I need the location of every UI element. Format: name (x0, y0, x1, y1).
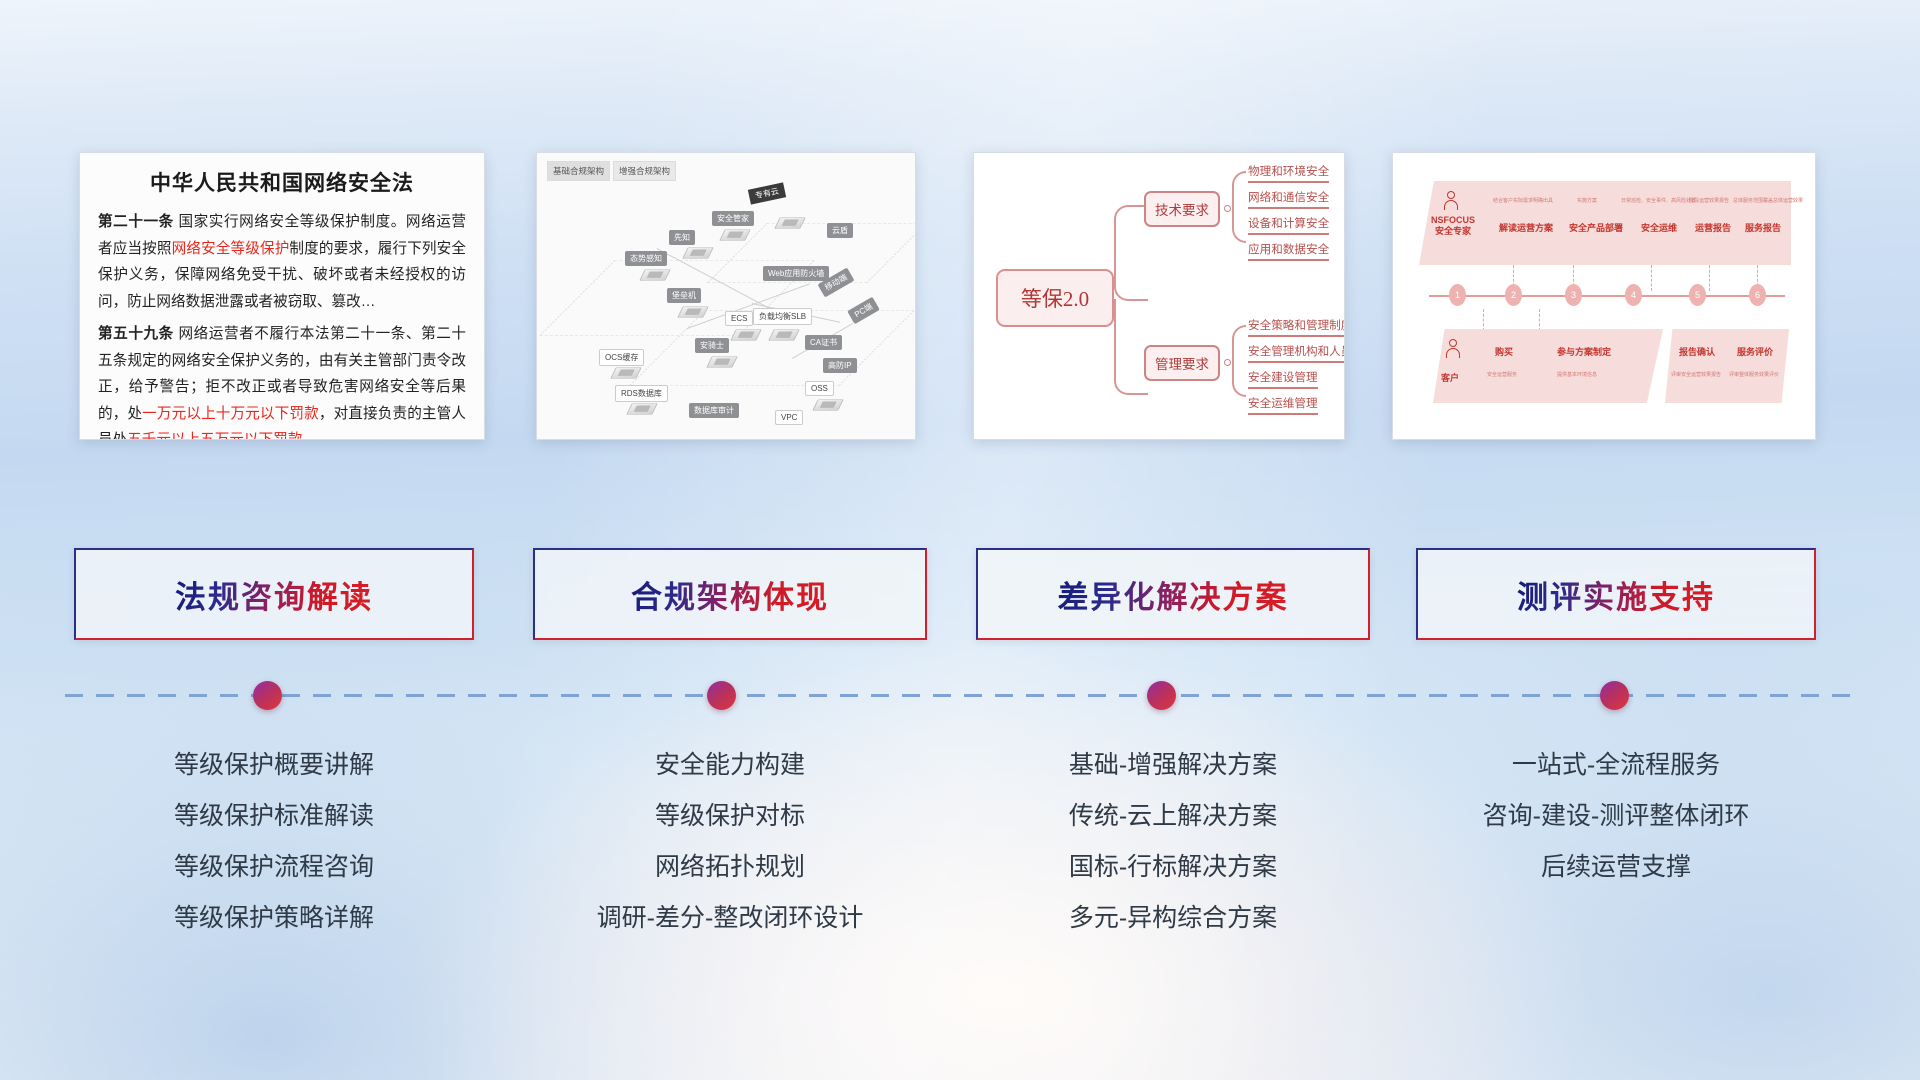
mindmap-branch-technical: 技术要求 (1144, 191, 1220, 227)
flow-axis (1429, 295, 1785, 297)
article-59-label: 第五十九条 (98, 326, 174, 342)
list-item: 后续运营支撑 (1416, 842, 1816, 893)
article-21-highlight: 网络安全等级保护 (172, 241, 290, 257)
step-1-sub: 结合客户实际需求明确出具 (1493, 197, 1553, 204)
list-item: 咨询-建设-测评整体闭环 (1416, 791, 1816, 842)
node-oss: OSS (805, 381, 834, 396)
mindmap-branch-management: 管理要求 (1144, 345, 1220, 381)
section-title-4: 测评实施支持 (1517, 572, 1715, 617)
step-3-sub: 日常巡检、安全事件、高风险处置 (1621, 197, 1696, 204)
customer-step-2-title: 参与方案制定 (1557, 345, 1611, 358)
dash-connector-3 (1651, 265, 1652, 291)
step-3-title: 安全运维 (1641, 221, 1677, 234)
law-article-59: 第五十九条 网络运营者不履行本法第二十一条、第二十五条规定的网络安全保护义务的，… (98, 321, 466, 440)
service-flow-diagram: NSFOCUS 安全专家 结合客户实际需求明确出具 解读运营方案 实施方案 安全… (1393, 153, 1815, 439)
mindmap-node-dot-1 (1224, 205, 1231, 212)
list-item: 一站式-全流程服务 (1416, 740, 1816, 791)
dash-connector-4 (1709, 265, 1710, 291)
mindmap-fan-2 (1232, 325, 1246, 397)
node-ecs: ECS (725, 311, 753, 326)
node-security-butler: 安全管家 (712, 211, 754, 226)
step-2-title: 安全产品部署 (1569, 221, 1623, 234)
list-item: 等级保护概要讲解 (74, 740, 474, 791)
section-title-2: 合规架构体现 (631, 572, 829, 617)
node-database-audit: 数据库审计 (689, 403, 739, 418)
cube-icon-9 (771, 325, 797, 345)
timeline-dot-2[interactable] (707, 681, 736, 710)
section-titles-row: 法规咨询解读 合规架构体现 差异化解决方案 测评实施支持 (0, 548, 1920, 644)
thumbnail-row: 中华人民共和国网络安全法 第二十一条 国家实行网络安全等级保护制度。网络运营者应… (0, 152, 1920, 442)
list-item: 等级保护标准解读 (74, 791, 474, 842)
mindmap-node-dot-2 (1224, 359, 1231, 366)
tab-basic-architecture[interactable]: 基础合规架构 (547, 161, 610, 181)
node-vpc: VPC (775, 410, 803, 425)
tab-enhanced-architecture[interactable]: 增强合规架构 (613, 161, 676, 181)
flow-number-3: 3 (1565, 284, 1582, 306)
list-item: 多元-异构综合方案 (976, 893, 1370, 944)
architecture-tabs: 基础合规架构 增强合规架构 (547, 161, 676, 181)
mindmap-fan-1 (1232, 171, 1246, 243)
report-step-2-sub: 评审整体服务效果评价 (1729, 371, 1779, 378)
service-list-3: 基础-增强解决方案 传统-云上解决方案 国标-行标解决方案 多元-异构综合方案 (976, 740, 1370, 944)
article-59-text-c: 。 (302, 432, 317, 440)
list-item: 网络拓扑规划 (533, 842, 927, 893)
service-list-2: 安全能力构建 等级保护对标 网络拓扑规划 调研-差分-整改闭环设计 (533, 740, 927, 944)
customer-step-1-sub: 安全运营服务 (1487, 371, 1517, 378)
list-item: 国标-行标解决方案 (976, 842, 1370, 893)
section-title-box-1[interactable]: 法规咨询解读 (74, 548, 474, 640)
node-anti-ddos-ip: 高防IP (823, 358, 857, 373)
section-title-1: 法规咨询解读 (175, 572, 373, 617)
mindmap-diagram: 等保2.0 技术要求 物理和环境安全 网络和通信安全 设备和计算安全 应用和数据… (974, 153, 1344, 439)
node-situational-awareness: 态势感知 (625, 251, 667, 266)
mindmap-root: 等保2.0 (996, 269, 1114, 327)
card-dengbao-mindmap[interactable]: 等保2.0 技术要求 物理和环境安全 网络和通信安全 设备和计算安全 应用和数据… (973, 152, 1345, 440)
flow-number-1: 1 (1449, 284, 1466, 306)
step-5-sub: 总体服务范围覆盖总体运营效果 (1733, 197, 1803, 204)
step-5-title: 服务报告 (1745, 221, 1781, 234)
card-service-flow[interactable]: NSFOCUS 安全专家 结合客户实际需求明确出具 解读运营方案 实施方案 安全… (1392, 152, 1816, 440)
dash-connector-7 (1539, 309, 1540, 331)
mindmap-leaf-policy: 安全策略和管理制度 (1248, 317, 1345, 337)
cube-icon-1 (722, 225, 748, 245)
expert-label: NSFOCUS 安全专家 (1426, 215, 1480, 238)
node-waf: Web应用防火墙 (763, 266, 829, 281)
mindmap-leaf-operations: 安全运维管理 (1248, 395, 1318, 415)
step-4-title: 运营报告 (1695, 221, 1731, 234)
law-title: 中华人民共和国网络安全法 (98, 167, 466, 197)
list-item: 传统-云上解决方案 (976, 791, 1370, 842)
section-title-box-2[interactable]: 合规架构体现 (533, 548, 927, 640)
section-title-box-4[interactable]: 测评实施支持 (1416, 548, 1816, 640)
customer-band (1433, 329, 1663, 403)
flow-number-2: 2 (1505, 284, 1522, 306)
article-59-highlight-2: 五千元以上五万元以下罚款 (127, 432, 302, 440)
list-item: 等级保护策略详解 (74, 893, 474, 944)
mindmap-connector-bottom (1114, 299, 1148, 395)
step-4-sub: 阶段运营效果报告 (1689, 197, 1729, 204)
cube-icon-6 (709, 352, 735, 372)
list-item: 调研-差分-整改闭环设计 (533, 893, 927, 944)
list-item: 基础-增强解决方案 (976, 740, 1370, 791)
law-article-21: 第二十一条 国家实行网络安全等级保护制度。网络运营者应当按照网络安全等级保护制度… (98, 209, 466, 315)
mindmap-leaf-org: 安全管理机构和人员 (1248, 343, 1345, 363)
customer-step-2-sub: 提供基本环境信息 (1557, 371, 1597, 378)
dash-connector-6 (1483, 309, 1484, 331)
mindmap-leaf-physical: 物理和环境安全 (1248, 163, 1329, 183)
cube-icon-5 (733, 325, 759, 345)
node-anqishi: 安骑士 (695, 338, 729, 353)
card-cybersecurity-law[interactable]: 中华人民共和国网络安全法 第二十一条 国家实行网络安全等级保护制度。网络运营者应… (79, 152, 485, 440)
mindmap-connector-top (1114, 205, 1148, 301)
report-step-2-title: 服务评价 (1737, 345, 1773, 358)
mindmap-leaf-construction: 安全建设管理 (1248, 369, 1318, 389)
flow-number-6: 6 (1749, 284, 1766, 306)
flow-number-5: 5 (1689, 284, 1706, 306)
node-cloud-shield: 云盾 (827, 223, 853, 238)
node-slb: 负载均衡SLB (753, 308, 812, 325)
section-title-3: 差异化解决方案 (1058, 572, 1289, 617)
node-private-cloud: 专有云 (748, 182, 786, 204)
section-title-box-3[interactable]: 差异化解决方案 (976, 548, 1370, 640)
article-21-label: 第二十一条 (98, 214, 174, 230)
step-1-title: 解读运营方案 (1499, 221, 1553, 234)
service-list-4: 一站式-全流程服务 咨询-建设-测评整体闭环 后续运营支撑 (1416, 740, 1816, 893)
report-band (1665, 329, 1789, 403)
cube-icon-11 (815, 395, 841, 415)
cube-icon-3 (642, 265, 668, 285)
customer-person-icon (1445, 339, 1461, 359)
node-bastion-host: 堡垒机 (667, 288, 701, 303)
mindmap-leaf-network: 网络和通信安全 (1248, 189, 1329, 209)
cube-icon-8 (629, 399, 655, 419)
article-59-highlight-1: 一万元以上十万元以下罚款 (142, 406, 319, 422)
list-item: 等级保护对标 (533, 791, 927, 842)
service-list-1: 等级保护概要讲解 等级保护标准解读 等级保护流程咨询 等级保护策略详解 (74, 740, 474, 944)
list-item: 安全能力构建 (533, 740, 927, 791)
expert-person-icon (1443, 191, 1459, 211)
card-compliance-architecture[interactable]: 基础合规架构 增强合规架构 专有云 安全管家 先知 态势感知 堡垒机 ECS 安… (536, 152, 916, 440)
flow-number-4: 4 (1625, 284, 1642, 306)
report-step-1-sub: 评审安全运营效果报告 (1671, 371, 1721, 378)
timeline-dot-4[interactable] (1600, 681, 1629, 710)
cube-icon-2 (685, 243, 711, 263)
architecture-diagram: 基础合规架构 增强合规架构 专有云 安全管家 先知 态势感知 堡垒机 ECS 安… (537, 153, 915, 439)
mindmap-leaf-application: 应用和数据安全 (1248, 241, 1329, 261)
mindmap-leaf-device: 设备和计算安全 (1248, 215, 1329, 235)
timeline-axis (65, 694, 1855, 697)
cube-icon-10 (777, 213, 803, 233)
timeline-dot-1[interactable] (253, 681, 282, 710)
customer-step-1-title: 购买 (1495, 345, 1513, 358)
report-step-1-title: 报告确认 (1679, 345, 1715, 358)
node-ca-certificate: CA证书 (805, 335, 842, 350)
list-item: 等级保护流程咨询 (74, 842, 474, 893)
customer-label: 客户 (1441, 371, 1459, 384)
cube-icon-7 (613, 363, 639, 383)
timeline-dot-3[interactable] (1147, 681, 1176, 710)
step-2-sub: 实施方案 (1577, 197, 1597, 204)
cube-icon-4 (680, 302, 706, 322)
